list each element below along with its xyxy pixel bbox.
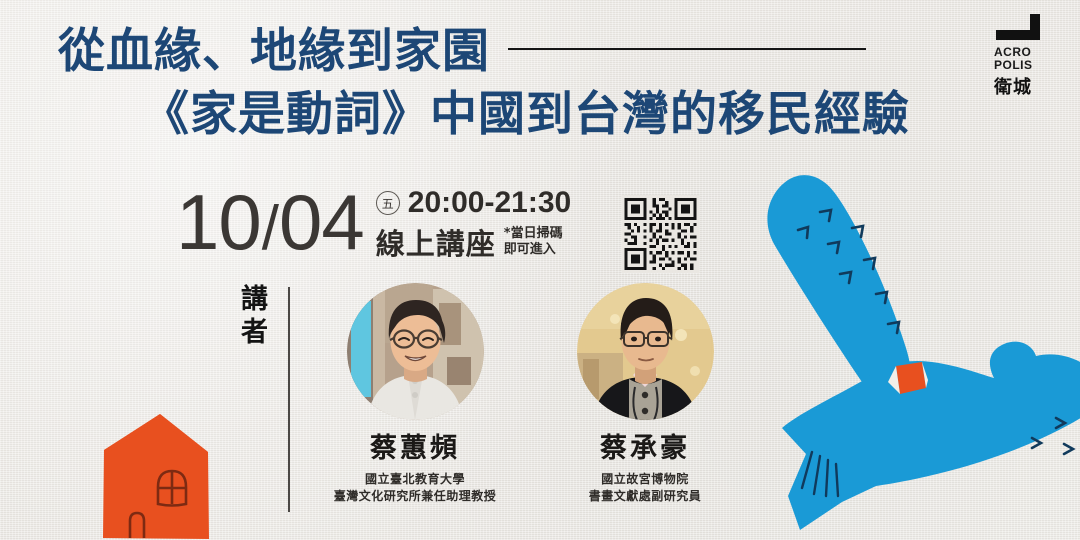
speaker-affiliation-line2: 書畫文獻處副研究員 (550, 488, 740, 505)
mode-line: 線上講座 *當日掃碼 即可進入 (376, 226, 571, 260)
entry-note-line2: 即可進入 (504, 242, 563, 258)
logo-zh-name: 衛城 (994, 77, 1058, 99)
blue-bird-illustration (736, 166, 1080, 540)
corner-bracket-icon (996, 14, 1040, 40)
speaker-affiliation-line1: 國立臺北教育大學 (320, 471, 510, 488)
entry-note: *當日掃碼 即可進入 (504, 226, 563, 258)
date-slash: / (261, 194, 279, 263)
speaker-name: 蔡承豪 (550, 433, 740, 465)
event-time: 20:00-21:30 (408, 188, 571, 218)
orange-house-icon (96, 412, 226, 540)
speaker-affiliation: 國立臺北教育大學 臺灣文化研究所兼任助理教授 (320, 471, 510, 505)
weekday-badge: 五 (376, 191, 400, 215)
speaker-affiliation: 國立故宮博物院 書畫文獻處副研究員 (550, 471, 740, 505)
time-line: 五 20:00-21:30 (376, 188, 571, 218)
qr-code-icon[interactable] (611, 195, 710, 273)
speakers-divider (288, 287, 290, 512)
avatar (347, 283, 484, 420)
event-date: 10/04 (176, 182, 364, 269)
event-datetime: 10/04 五 20:00-21:30 線上講座 *當日掃碼 即可進入 (176, 182, 571, 269)
page-title-line1: 從血緣、地緣到家園 (58, 24, 490, 80)
publisher-logo: ACRO POLIS 衛城 (994, 14, 1058, 99)
avatar (577, 283, 714, 420)
page-title-line2: 《家是動詞》中國到台灣的移民經驗 (142, 86, 978, 144)
logo-en-line2: POLIS (994, 59, 1058, 72)
event-mode: 線上講座 (376, 229, 496, 260)
speaker-affiliation-line1: 國立故宮博物院 (550, 471, 740, 488)
speaker-card: 蔡蕙頻 國立臺北教育大學 臺灣文化研究所兼任助理教授 (320, 283, 510, 505)
event-poster: 從血緣、地緣到家園 《家是動詞》中國到台灣的移民經驗 ACRO POLIS 衛城… (0, 0, 1080, 540)
speaker-card: 蔡承豪 國立故宮博物院 書畫文獻處副研究員 (550, 283, 740, 505)
speakers-label: 講者 (238, 283, 272, 349)
title-block: 從血緣、地緣到家園 《家是動詞》中國到台灣的移民經驗 (58, 24, 978, 144)
speaker-affiliation-line2: 臺灣文化研究所兼任助理教授 (320, 488, 510, 505)
event-day: 04 (279, 178, 364, 266)
speaker-name: 蔡蕙頻 (320, 433, 510, 465)
entry-note-line1: *當日掃碼 (504, 226, 563, 242)
speakers-list: 蔡蕙頻 國立臺北教育大學 臺灣文化研究所兼任助理教授 (320, 283, 740, 505)
time-column: 五 20:00-21:30 線上講座 *當日掃碼 即可進入 (376, 182, 571, 260)
event-month: 10 (176, 178, 261, 266)
title-rule (508, 48, 866, 50)
